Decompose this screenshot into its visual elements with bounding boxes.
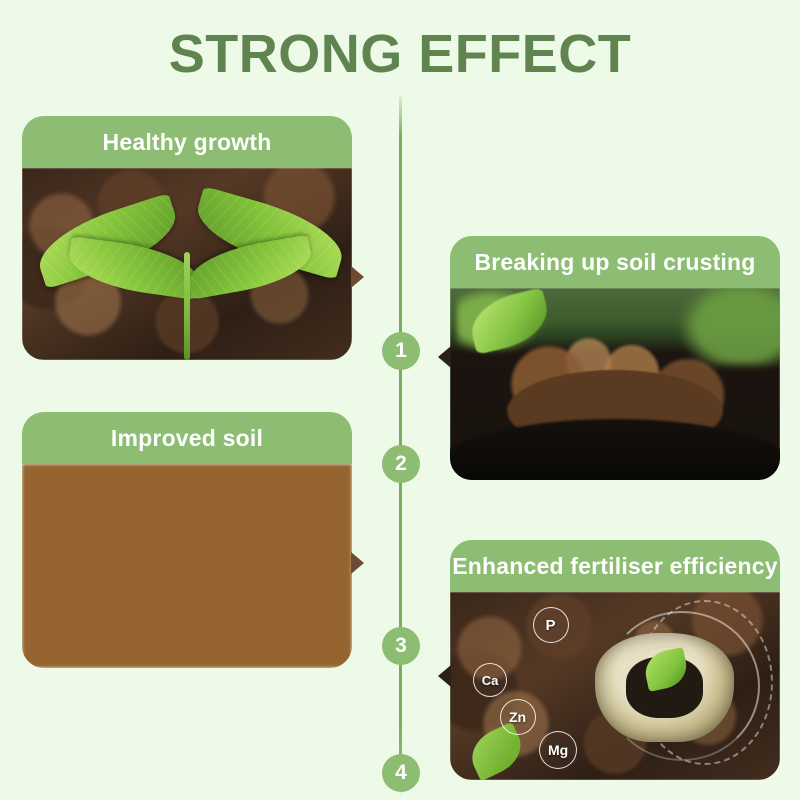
card-fertiliser-label: Enhanced fertiliser efficiency	[452, 553, 778, 580]
nutrient-bubble-p: P	[533, 607, 569, 643]
card-soil-crusting-label: Breaking up soil crusting	[474, 249, 755, 276]
card-healthy-growth[interactable]: Healthy growth	[22, 116, 352, 360]
timeline-node-1-label: 1	[395, 339, 407, 363]
timeline-node-2-label: 2	[395, 452, 407, 476]
card-soil-crusting-photo	[450, 288, 780, 480]
card-pointer-soil-crusting	[438, 346, 451, 368]
card-improved-soil-photo	[22, 464, 352, 668]
card-pointer-improved-soil	[351, 552, 364, 574]
card-fertiliser[interactable]: Enhanced fertiliser efficiency P Ca	[450, 540, 780, 780]
card-improved-soil-inner: Improved soil	[22, 412, 352, 668]
seedling-illustration	[22, 168, 352, 360]
nutrient-bubble-mg: Mg	[539, 731, 577, 769]
timeline-node-4-label: 4	[395, 761, 407, 785]
seed-pod	[595, 633, 734, 742]
stem-icon	[184, 252, 190, 360]
vertical-timeline: 1 2 3 4	[398, 96, 403, 796]
nutrient-label: Mg	[548, 742, 568, 758]
timeline-node-3[interactable]: 3	[382, 627, 420, 665]
card-healthy-growth-label: Healthy growth	[103, 129, 272, 156]
card-healthy-growth-photo	[22, 168, 352, 360]
card-improved-soil[interactable]: Improved soil	[22, 412, 352, 668]
card-improved-soil-label: Improved soil	[111, 425, 263, 452]
card-soil-crusting[interactable]: Breaking up soil crusting	[450, 236, 780, 480]
card-fertiliser-inner: Enhanced fertiliser efficiency P Ca	[450, 540, 780, 780]
timeline-node-1[interactable]: 1	[382, 332, 420, 370]
card-soil-crusting-banner: Breaking up soil crusting	[450, 236, 780, 288]
soil-texture	[22, 464, 352, 668]
timeline-node-3-label: 3	[395, 634, 407, 658]
blurred-foliage	[681, 280, 780, 364]
card-soil-crusting-inner: Breaking up soil crusting	[450, 236, 780, 480]
card-pointer-fertiliser	[438, 665, 451, 687]
nutrient-bubble-zn: Zn	[500, 699, 536, 735]
leaf-icon	[184, 234, 315, 299]
card-fertiliser-banner: Enhanced fertiliser efficiency	[450, 540, 780, 592]
timeline-node-4[interactable]: 4	[382, 754, 420, 792]
timeline-node-2[interactable]: 2	[382, 445, 420, 483]
leaf-icon	[66, 236, 203, 300]
card-fertiliser-photo: P Ca Zn Mg	[450, 592, 780, 780]
infographic-root: STRONG EFFECT 1 2 3 4 Healthy growth	[0, 0, 800, 800]
page-title: STRONG EFFECT	[0, 22, 800, 86]
card-improved-soil-banner: Improved soil	[22, 412, 352, 464]
nutrient-label: Zn	[509, 709, 526, 725]
card-pointer-healthy-growth	[351, 266, 364, 288]
nutrient-label: P	[545, 617, 555, 634]
card-healthy-growth-banner: Healthy growth	[22, 116, 352, 168]
nutrient-label: Ca	[482, 673, 499, 688]
card-healthy-growth-inner: Healthy growth	[22, 116, 352, 360]
